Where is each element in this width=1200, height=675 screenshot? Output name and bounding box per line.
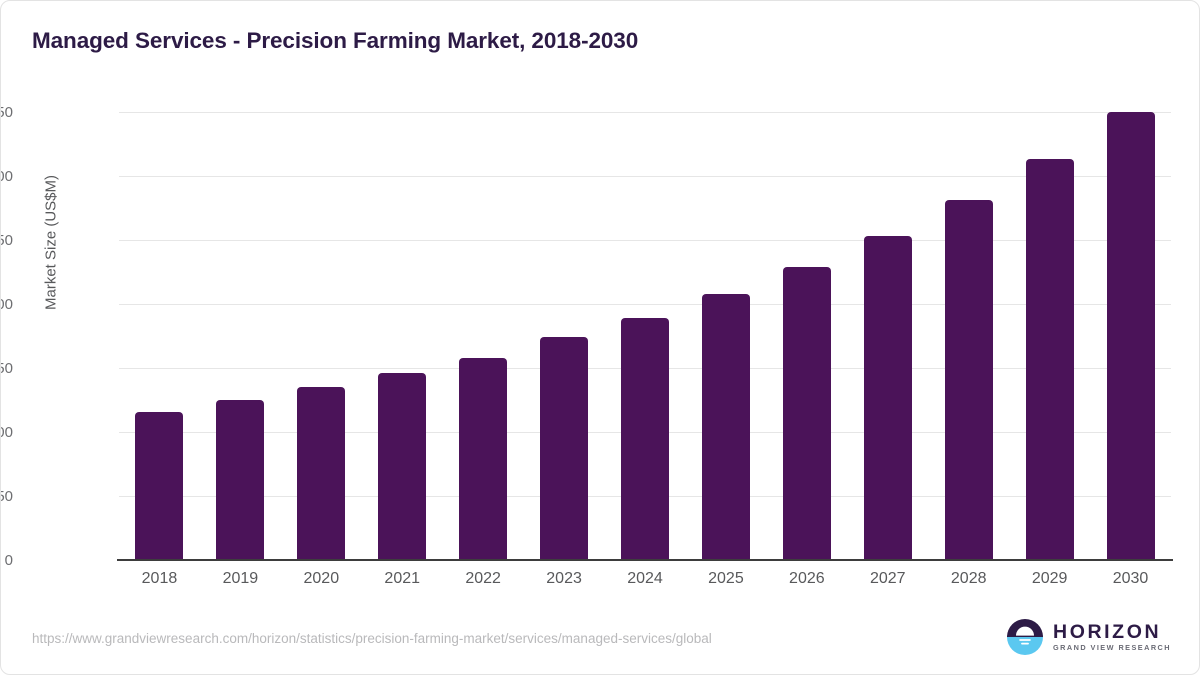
source-url: https://www.grandviewresearch.com/horizo… (32, 631, 712, 646)
logo-text: HORIZON GRAND VIEW RESEARCH (1053, 622, 1171, 652)
bar[interactable] (1107, 112, 1155, 560)
x-axis-tick-label: 2030 (1091, 570, 1171, 588)
x-axis-tick-label: 2024 (605, 570, 685, 588)
bar[interactable] (621, 318, 669, 560)
page-title: Managed Services - Precision Farming Mar… (32, 28, 638, 54)
y-axis-tick-label: 0 (0, 553, 13, 568)
gridline (119, 304, 1171, 305)
horizon-logo-icon (1006, 618, 1044, 656)
gridline (119, 176, 1171, 177)
y-axis-tick-label: 200 (0, 297, 13, 312)
x-axis-tick-label: 2020 (281, 570, 361, 588)
bar[interactable] (135, 412, 183, 560)
x-axis-tick-label: 2021 (362, 570, 442, 588)
y-axis-tick-label: 50 (0, 489, 13, 504)
x-axis-tick-label: 2026 (767, 570, 847, 588)
x-axis-tick-label: 2023 (524, 570, 604, 588)
x-axis-tick-label: 2022 (443, 570, 523, 588)
y-axis-tick-label: 250 (0, 233, 13, 248)
bar[interactable] (783, 267, 831, 560)
logo-wordmark: HORIZON (1053, 622, 1171, 643)
bar[interactable] (378, 373, 426, 560)
bar[interactable] (540, 337, 588, 560)
bar[interactable] (297, 387, 345, 560)
x-axis-tick-label: 2025 (686, 570, 766, 588)
gridline (119, 240, 1171, 241)
plot-area (119, 112, 1171, 560)
x-axis-tick-label: 2028 (929, 570, 1009, 588)
x-axis-tick-label: 2027 (848, 570, 928, 588)
x-axis-line (117, 559, 1173, 561)
bar[interactable] (945, 200, 993, 560)
bar[interactable] (216, 400, 264, 560)
x-axis-tick-label: 2019 (200, 570, 280, 588)
bar[interactable] (864, 236, 912, 560)
horizon-logo: HORIZON GRAND VIEW RESEARCH (1006, 618, 1171, 656)
bar[interactable] (459, 358, 507, 560)
bar[interactable] (1026, 159, 1074, 560)
x-axis-tick-label: 2018 (119, 570, 199, 588)
x-axis-tick-label: 2029 (1010, 570, 1090, 588)
logo-tagline: GRAND VIEW RESEARCH (1053, 644, 1171, 652)
y-axis-tick-label: 150 (0, 361, 13, 376)
bar[interactable] (702, 294, 750, 560)
chart-card: Managed Services - Precision Farming Mar… (0, 0, 1200, 675)
y-axis-tick-label: 300 (0, 169, 13, 184)
y-axis-title: Market Size (US$M) (43, 113, 60, 373)
y-axis-tick-label: 100 (0, 425, 13, 440)
gridline (119, 112, 1171, 113)
y-axis-tick-label: 350 (0, 105, 13, 120)
